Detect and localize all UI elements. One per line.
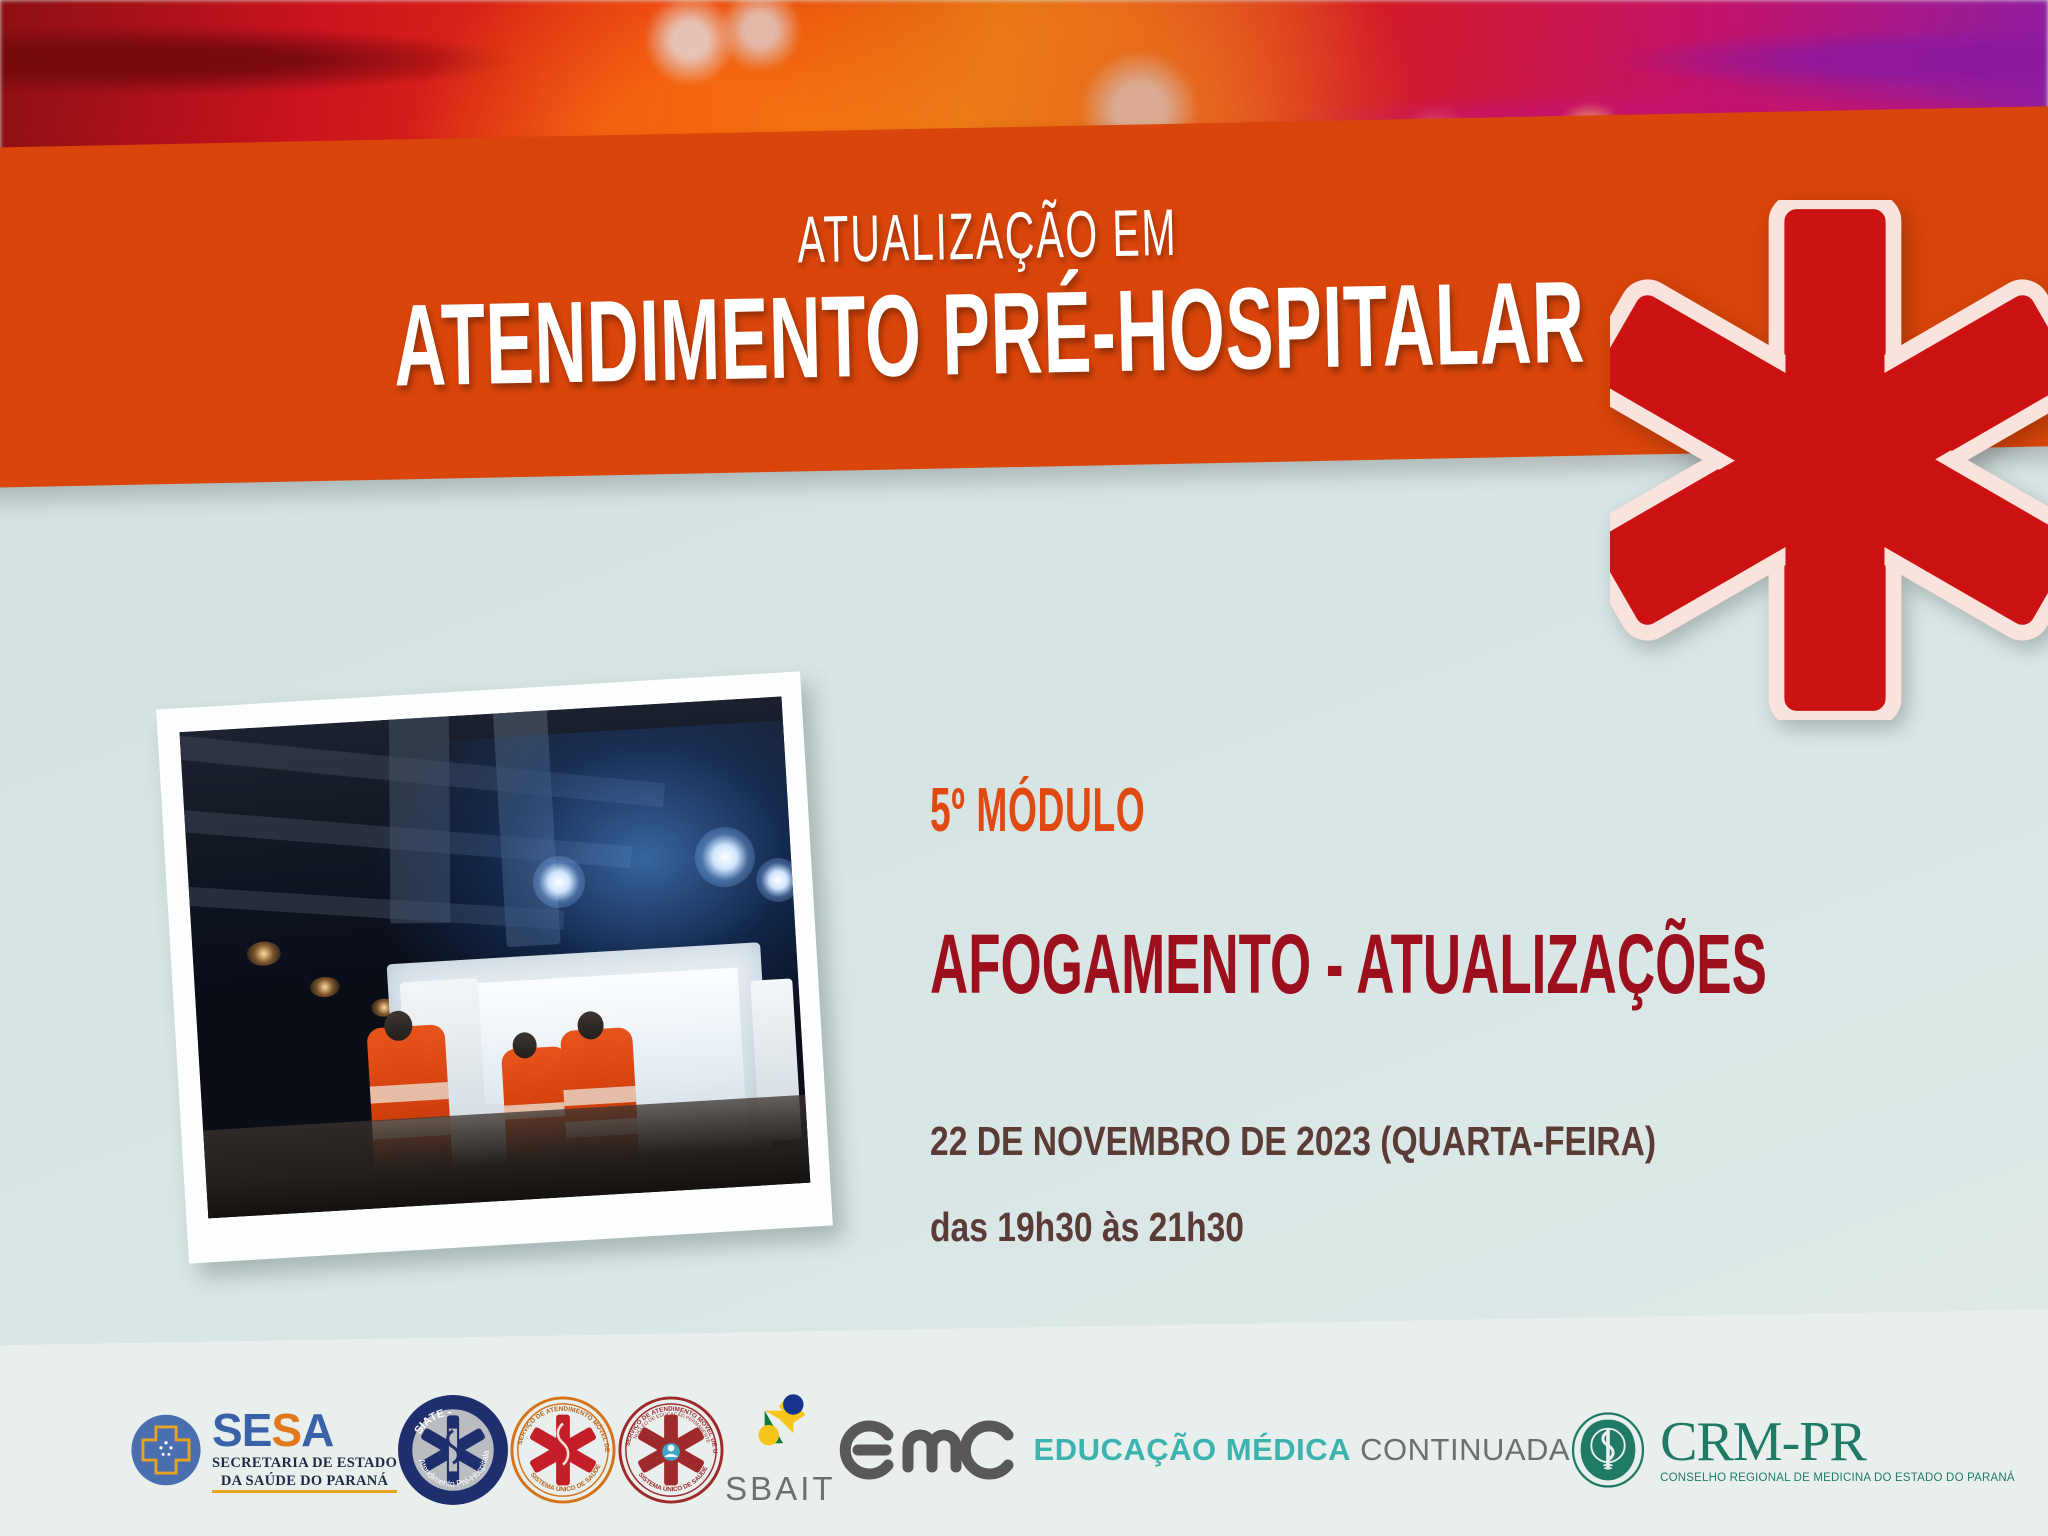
crm-acronym: CRM-PR	[1660, 1416, 2015, 1469]
header-eyebrow: ATUALIZAÇÃO EM	[796, 199, 1177, 273]
course-title: AFOGAMENTO - ATUALIZAÇÕES	[930, 922, 1598, 1006]
emc-tagline-grey: CONTINUADA	[1360, 1432, 1570, 1467]
logo-sbait: SBAIT	[725, 1392, 835, 1508]
event-details: 5º MÓDULO AFOGAMENTO - ATUALIZAÇÕES 22 D…	[930, 780, 1990, 1248]
partner-logo-bar: SESA SECRETARIA DE ESTADO DA SAÚDE DO PA…	[0, 1378, 2048, 1536]
star-of-life-icon	[1610, 200, 2048, 720]
module-label: 5º MÓDULO	[930, 780, 1566, 842]
page-title: ATENDIMENTO PRÉ-HOSPITALAR	[392, 262, 1585, 404]
event-date: 22 DE NOVEMBRO DE 2023 (QUARTA-FEIRA)	[930, 1121, 1799, 1162]
event-photo-frame	[156, 671, 833, 1263]
logo-samu-educacao: SERVIÇO DE ATENDIMENTO MÓVEL DE URGÊNCIA…	[617, 1396, 725, 1504]
crm-subtitle: CONSELHO REGIONAL DE MEDICINA DO ESTADO …	[1660, 1472, 2015, 1484]
sesa-underline	[212, 1490, 397, 1493]
emc-tagline: EDUCAÇÃO MÉDICA CONTINUADA	[1034, 1432, 1571, 1468]
emc-tagline-teal: EDUCAÇÃO MÉDICA	[1034, 1432, 1352, 1467]
emc-mark-icon	[836, 1413, 1016, 1487]
logo-emc: EDUCAÇÃO MÉDICA CONTINUADA	[836, 1413, 1571, 1487]
event-poster: ATUALIZAÇÃO EM ATENDIMENTO PRÉ-HOSPITALA…	[0, 0, 2048, 1536]
logo-samu: SERVIÇO DE ATENDIMENTO MÓVEL DE URGÊNCIA…	[509, 1396, 617, 1504]
sesa-line1: SECRETARIA DE ESTADO	[212, 1456, 397, 1471]
sesa-cross-icon	[130, 1414, 202, 1486]
logo-siate: SIATE - Atendimento Pré-Hospitalar	[397, 1394, 509, 1506]
logo-crm-pr: CRM-PR CONSELHO REGIONAL DE MEDICINA DO …	[1570, 1412, 2015, 1488]
logo-sesa: SESA SECRETARIA DE ESTADO DA SAÚDE DO PA…	[130, 1407, 397, 1493]
crm-asclepius-icon	[1570, 1412, 1646, 1488]
event-time: das 19h30 às 21h30	[930, 1207, 1799, 1248]
sbait-mark-icon	[734, 1392, 826, 1466]
ambulance-night-photo	[179, 697, 810, 1219]
sbait-label: SBAIT	[725, 1470, 835, 1508]
sesa-acronym: SESA	[212, 1407, 397, 1453]
sesa-line2: DA SAÚDE DO PARANÁ	[212, 1474, 397, 1489]
